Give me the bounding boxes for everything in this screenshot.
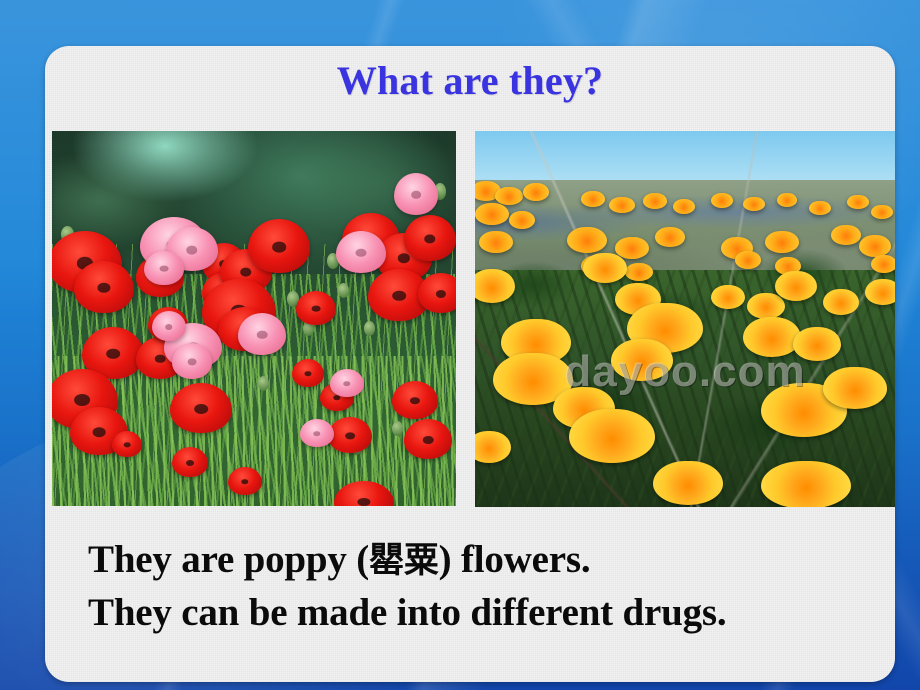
orange-poppy-flower bbox=[479, 231, 513, 253]
orange-poppy-hillside-photo: dayoo.com bbox=[475, 131, 895, 507]
orange-poppy-flower bbox=[495, 187, 523, 205]
pink-poppy-flower bbox=[330, 369, 364, 397]
orange-poppy-flower bbox=[653, 461, 723, 505]
orange-poppy-flower bbox=[809, 201, 831, 215]
orange-poppy-flower bbox=[859, 235, 891, 257]
orange-poppy-flower bbox=[567, 227, 607, 253]
red-poppy-flower bbox=[292, 359, 324, 387]
content-panel: What are they? bbox=[45, 46, 895, 682]
pink-poppy-flower bbox=[238, 313, 286, 355]
orange-poppy-flower bbox=[583, 253, 627, 283]
orange-poppy-flower bbox=[609, 197, 635, 213]
orange-poppy-flower bbox=[765, 231, 799, 253]
pink-poppy-flower bbox=[300, 419, 334, 447]
orange-poppy-flower bbox=[747, 293, 785, 319]
body-line-1-chinese: 罌粟 bbox=[369, 541, 439, 581]
red-poppy-flower bbox=[404, 419, 452, 459]
poppy-bud bbox=[364, 321, 375, 336]
red-poppy-flower bbox=[74, 261, 134, 313]
pink-poppy-flower bbox=[144, 251, 184, 285]
pink-poppy-flower bbox=[152, 311, 186, 341]
orange-poppy-flower bbox=[569, 409, 655, 463]
pink-poppy-flower bbox=[394, 173, 438, 215]
body-line-2: They can be made into different drugs. bbox=[88, 586, 888, 639]
red-poppy-flower bbox=[112, 431, 142, 457]
red-poppy-flower bbox=[172, 447, 208, 477]
red-poppy-flower bbox=[170, 383, 232, 433]
orange-poppy-flower bbox=[865, 279, 895, 305]
orange-poppy-flower bbox=[735, 251, 761, 269]
orange-poppy-flower bbox=[871, 255, 895, 273]
page-title: What are they? bbox=[45, 60, 895, 102]
orange-poppy-flower bbox=[673, 199, 695, 214]
orange-poppy-flower bbox=[523, 183, 549, 201]
poppy-bud bbox=[392, 421, 403, 436]
orange-poppy-flower bbox=[615, 237, 649, 259]
pink-poppy-flower bbox=[336, 231, 386, 273]
orange-poppy-flower bbox=[625, 263, 653, 281]
body-text: They are poppy (罌粟) flowers. They can be… bbox=[88, 533, 888, 639]
orange-poppy-flower bbox=[847, 195, 869, 209]
body-line-1: They are poppy (罌粟) flowers. bbox=[88, 533, 888, 586]
red-poppy-field-photo bbox=[52, 131, 456, 506]
orange-poppy-flower bbox=[509, 211, 535, 229]
orange-poppy-flower bbox=[761, 461, 851, 507]
red-poppy-flower bbox=[404, 215, 456, 261]
red-poppy-flower bbox=[328, 417, 372, 453]
body-line-1-prefix: They are poppy ( bbox=[88, 538, 369, 581]
photo-watermark: dayoo.com bbox=[475, 347, 895, 397]
red-poppy-flower bbox=[228, 467, 262, 495]
slide-canvas: What are they? bbox=[0, 0, 920, 690]
red-poppy-flower bbox=[296, 291, 336, 325]
orange-poppy-flower bbox=[643, 193, 667, 209]
orange-poppy-flower bbox=[711, 193, 733, 208]
orange-poppy-flower bbox=[743, 197, 765, 211]
poppy-bud bbox=[338, 283, 349, 298]
orange-poppy-flower bbox=[655, 227, 685, 247]
red-poppy-flower bbox=[392, 381, 438, 419]
orange-poppy-flower bbox=[831, 225, 861, 245]
poppy-bud bbox=[258, 376, 269, 391]
orange-poppy-flower bbox=[475, 203, 509, 225]
orange-poppy-flower bbox=[711, 285, 745, 309]
orange-poppy-flower bbox=[823, 289, 859, 315]
red-poppy-flower bbox=[418, 273, 456, 313]
orange-poppy-flower bbox=[581, 191, 605, 207]
orange-poppy-flower bbox=[871, 205, 893, 219]
body-line-1-suffix: ) flowers. bbox=[439, 538, 591, 581]
orange-poppy-flower bbox=[775, 271, 817, 301]
pink-poppy-flower bbox=[172, 343, 212, 379]
red-poppy-flower bbox=[248, 219, 310, 273]
orange-poppy-flower bbox=[777, 193, 797, 207]
